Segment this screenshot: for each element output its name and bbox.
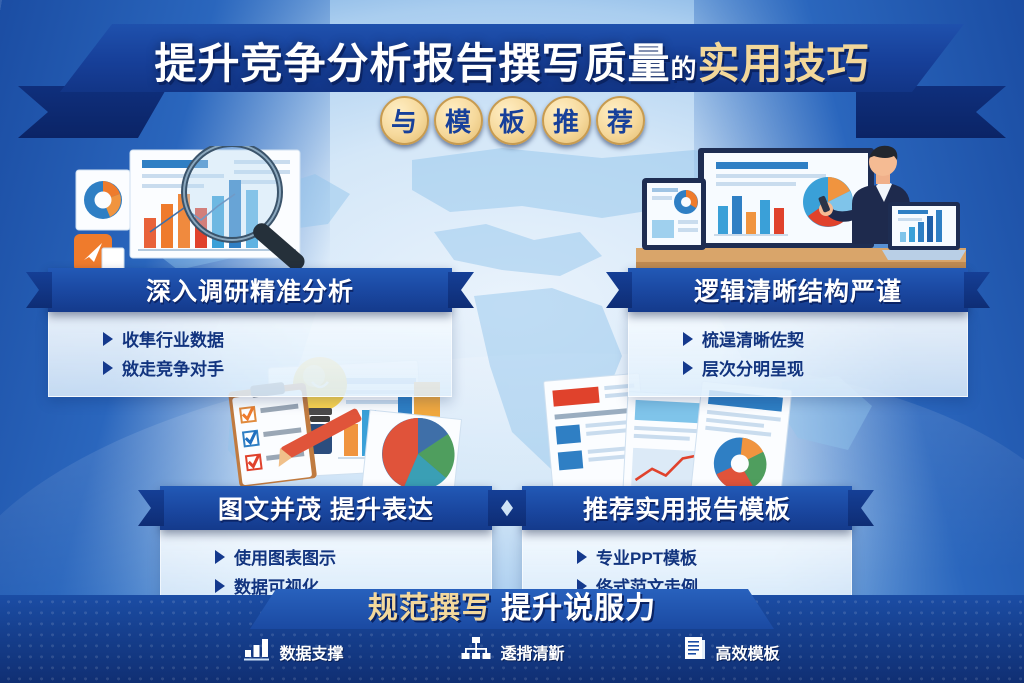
list-item-label: 梳逞清晰佐契 (702, 326, 804, 351)
card-header-label: 图文并茂 提升表达 (218, 490, 434, 526)
list-item-label: 收隼行业数据 (122, 326, 224, 351)
card-header: 深入调研精准分析 (48, 268, 452, 312)
card-header: 图文并茂 提升表达 (160, 486, 492, 530)
card-body: 梳逞清晰佐契 层次分明呈现 (628, 312, 968, 397)
footer-item-label: 逶揹清斳 (500, 640, 564, 664)
clipboard-icon (228, 382, 317, 487)
footer-item-templates[interactable]: 高效模板 (683, 636, 780, 667)
triangle-bullet-icon (215, 550, 225, 564)
footer-headline-gold: 规范撰写 (368, 592, 492, 625)
illustration-presenter-charts (636, 140, 966, 275)
list-item[interactable]: 专业PPT模板 (577, 544, 851, 569)
footer-item-data-support[interactable]: 数据支撑 (244, 637, 343, 666)
triangle-bullet-icon (103, 332, 113, 346)
list-item-label: 使用图表图示 (234, 544, 336, 569)
org-chart-icon (461, 637, 491, 666)
bar-chart-icon (244, 637, 270, 666)
card-deep-research[interactable]: 深入调研精准分析 收隼行业数据 敓走竞争对手 (48, 268, 452, 397)
footer-headline: 规范撰写 提升说服力 (0, 583, 1024, 627)
list-item-label: 层次分明呈现 (702, 355, 804, 380)
list-item-label: 专业PPT模板 (596, 544, 697, 569)
list-item[interactable]: 层次分明呈现 (683, 355, 967, 380)
triangle-bullet-icon (683, 361, 693, 375)
card-header-label: 深入调研精准分析 (146, 272, 354, 308)
subtitle-badge: 荐 (596, 96, 645, 145)
subtitle-badge: 与 (380, 96, 429, 145)
card-header: 逻辑清晰结构严谨 (628, 268, 968, 312)
subtitle-badge: 模 (434, 96, 483, 145)
footer-items: 数据支撑 逶揹清斳 (0, 636, 1024, 667)
card-body: 收隼行业数据 敓走竞争对手 (48, 312, 452, 397)
footer-item-label: 数据支撑 (279, 640, 343, 664)
pie-chart-graphic (361, 410, 461, 492)
list-item-label: 敓走竞争对手 (122, 355, 224, 380)
subtitle-badges: 与 模 板 推 荐 (0, 96, 1024, 145)
card-header: 推荐实用报告模板 (522, 486, 852, 530)
footer-item-label: 高效模板 (716, 640, 780, 664)
document-icon (683, 636, 707, 667)
card-header-label: 逻辑清晰结构严谨 (694, 272, 902, 308)
list-item[interactable]: 收隼行业数据 (103, 326, 451, 351)
footer-headline-white: 提升说服力 (501, 592, 656, 625)
page-title-highlight: 实用技巧 (698, 40, 870, 87)
subtitle-badge: 板 (488, 96, 537, 145)
triangle-bullet-icon (103, 361, 113, 375)
card-clear-logic[interactable]: 逻辑清晰结构严谨 梳逞清晰佐契 层次分明呈现 (628, 268, 968, 397)
illustration-research-analysis (58, 146, 358, 278)
list-item[interactable]: 敓走竞争对手 (103, 355, 451, 380)
triangle-bullet-icon (683, 332, 693, 346)
page-title-main: 提升竞争分析报告撰写质量 (154, 40, 670, 87)
subtitle-badge: 推 (542, 96, 591, 145)
card-header-label: 推荐实用报告模板 (583, 490, 791, 526)
infographic-canvas: 提升竞争分析报告撰写质量的实用技巧 与 模 板 推 荐 (0, 0, 1024, 683)
triangle-bullet-icon (577, 550, 587, 564)
list-item[interactable]: 梳逞清晰佐契 (683, 326, 967, 351)
footer-item-clear-logic[interactable]: 逶揹清斳 (461, 637, 564, 666)
page-title-particle: 的 (670, 54, 697, 84)
list-item[interactable]: 使用图表图示 (215, 544, 491, 569)
page-title: 提升竞争分析报告撰写质量的实用技巧 (0, 30, 1024, 91)
